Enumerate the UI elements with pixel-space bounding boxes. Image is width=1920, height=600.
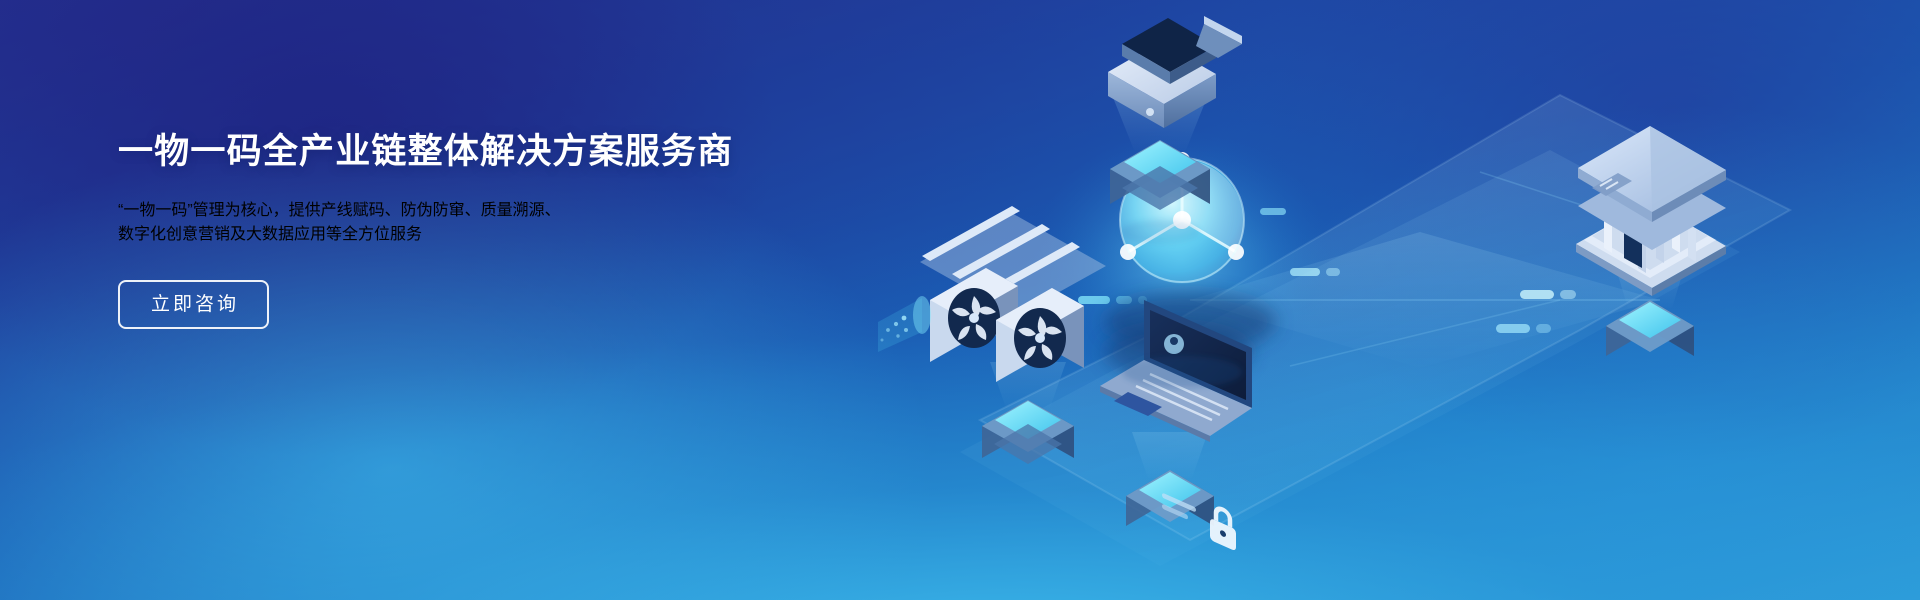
banner-subtitle-line-2: 数字化创意营销及大数据应用等全方位服务 bbox=[118, 220, 878, 244]
cta-container: 立即咨询 bbox=[118, 280, 878, 329]
banner-headline: 一物一码全产业链整体解决方案服务商 bbox=[118, 130, 878, 174]
hero-banner: 一物一码全产业链整体解决方案服务商 “一物一码”管理为核心，提供产线赋码、防伪防… bbox=[0, 0, 1920, 600]
consult-now-button[interactable]: 立即咨询 bbox=[118, 280, 269, 329]
banner-subtitle-line-1: “一物一码”管理为核心，提供产线赋码、防伪防窜、质量溯源、 bbox=[118, 196, 878, 220]
server-fans-node bbox=[878, 206, 1106, 464]
banner-copy: 一物一码全产业链整体解决方案服务商 “一物一码”管理为核心，提供产线赋码、防伪防… bbox=[118, 130, 878, 329]
iot-network-illustration bbox=[860, 0, 1920, 600]
bank-data-packets bbox=[1496, 324, 1551, 333]
scan-cone bbox=[878, 296, 931, 352]
